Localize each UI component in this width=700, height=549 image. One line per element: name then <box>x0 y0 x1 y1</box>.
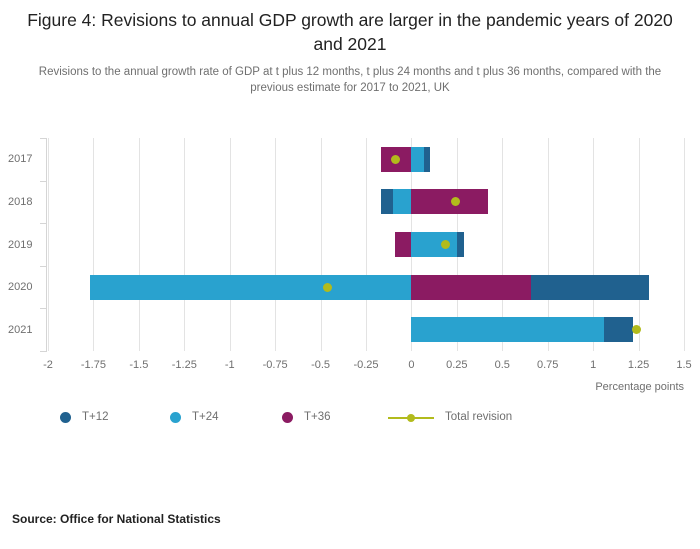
bar-segment-2019-T12[interactable] <box>457 232 464 257</box>
bar-segment-2018-T12[interactable] <box>381 189 394 214</box>
chart-subtitle: Revisions to the annual growth rate of G… <box>0 56 700 96</box>
legend-line-icon <box>388 412 434 423</box>
x-axis-label-0: 0 <box>408 359 414 371</box>
x-axis-label-1: 1 <box>590 359 596 371</box>
x-axis-label-1.25: 1.25 <box>628 359 649 371</box>
y-tick <box>40 138 47 139</box>
chart-legend: T+12T+24T+36Total revision <box>0 405 700 429</box>
legend-item-t-36[interactable]: T+36 <box>282 405 331 429</box>
legend-item-t-24[interactable]: T+24 <box>170 405 219 429</box>
x-axis-label--2: -2 <box>43 359 53 371</box>
x-axis-label-0.25: 0.25 <box>446 359 467 371</box>
x-axis-label-0.75: 0.75 <box>537 359 558 371</box>
legend-circle-icon <box>60 412 71 423</box>
source-note: Source: Office for National Statistics <box>12 512 221 526</box>
total-revision-marker-2017[interactable] <box>391 155 400 164</box>
bar-segment-2018-T36[interactable] <box>411 189 487 214</box>
legend-label: T+12 <box>82 411 109 423</box>
y-tick <box>40 351 47 352</box>
legend-label: T+24 <box>192 411 219 423</box>
legend-circle-icon <box>170 412 181 423</box>
legend-circle-icon <box>282 412 293 423</box>
x-axis-label--0.25: -0.25 <box>353 359 378 371</box>
total-revision-marker-2020[interactable] <box>323 283 332 292</box>
chart-plot-area: 20172018201920202021 -2-1.75-1.5-1.25-1-… <box>0 120 700 380</box>
x-axis-label--1.25: -1.25 <box>172 359 197 371</box>
y-axis-label-2019: 2019 <box>8 239 42 251</box>
y-axis-label-2020: 2020 <box>8 281 42 293</box>
x-axis-label--0.5: -0.5 <box>311 359 330 371</box>
y-axis-label-2017: 2017 <box>8 153 42 165</box>
bar-segment-2020-T36[interactable] <box>411 275 531 300</box>
x-axis-label-0.5: 0.5 <box>495 359 510 371</box>
bar-segment-2021-T12[interactable] <box>604 317 633 342</box>
bar-segment-2019-T24[interactable] <box>411 232 456 257</box>
bar-segment-2017-T12[interactable] <box>424 147 429 172</box>
bar-segment-2017-T24[interactable] <box>411 147 424 172</box>
legend-item-t-12[interactable]: T+12 <box>60 405 109 429</box>
y-axis-line <box>46 138 47 351</box>
gridline-1.5 <box>684 138 685 351</box>
y-tick <box>40 266 47 267</box>
legend-label: Total revision <box>445 411 512 423</box>
total-revision-marker-2018[interactable] <box>451 197 460 206</box>
bars-group <box>48 138 684 351</box>
page-title: Figure 4: Revisions to annual GDP growth… <box>0 0 700 56</box>
x-axis-label--1.75: -1.75 <box>81 359 106 371</box>
bar-segment-2018-T24[interactable] <box>393 189 411 214</box>
bar-segment-2019-T36[interactable] <box>395 232 411 257</box>
figure-container: Figure 4: Revisions to annual GDP growth… <box>0 0 700 549</box>
legend-label: T+36 <box>304 411 331 423</box>
y-axis-label-2018: 2018 <box>8 196 42 208</box>
y-axis-label-2021: 2021 <box>8 324 42 336</box>
x-axis-label--0.75: -0.75 <box>263 359 288 371</box>
x-axis-label--1.5: -1.5 <box>129 359 148 371</box>
legend-item-total-revision[interactable]: Total revision <box>388 405 512 429</box>
x-axis-label-1.5: 1.5 <box>676 359 691 371</box>
y-tick <box>40 181 47 182</box>
bar-segment-2020-T12[interactable] <box>531 275 649 300</box>
total-revision-marker-2021[interactable] <box>632 325 641 334</box>
bar-segment-2020-T24[interactable] <box>90 275 412 300</box>
y-tick <box>40 223 47 224</box>
x-axis-label--1: -1 <box>225 359 235 371</box>
bar-segment-2021-T24[interactable] <box>411 317 604 342</box>
y-tick <box>40 308 47 309</box>
x-axis-caption: Percentage points <box>595 381 684 393</box>
